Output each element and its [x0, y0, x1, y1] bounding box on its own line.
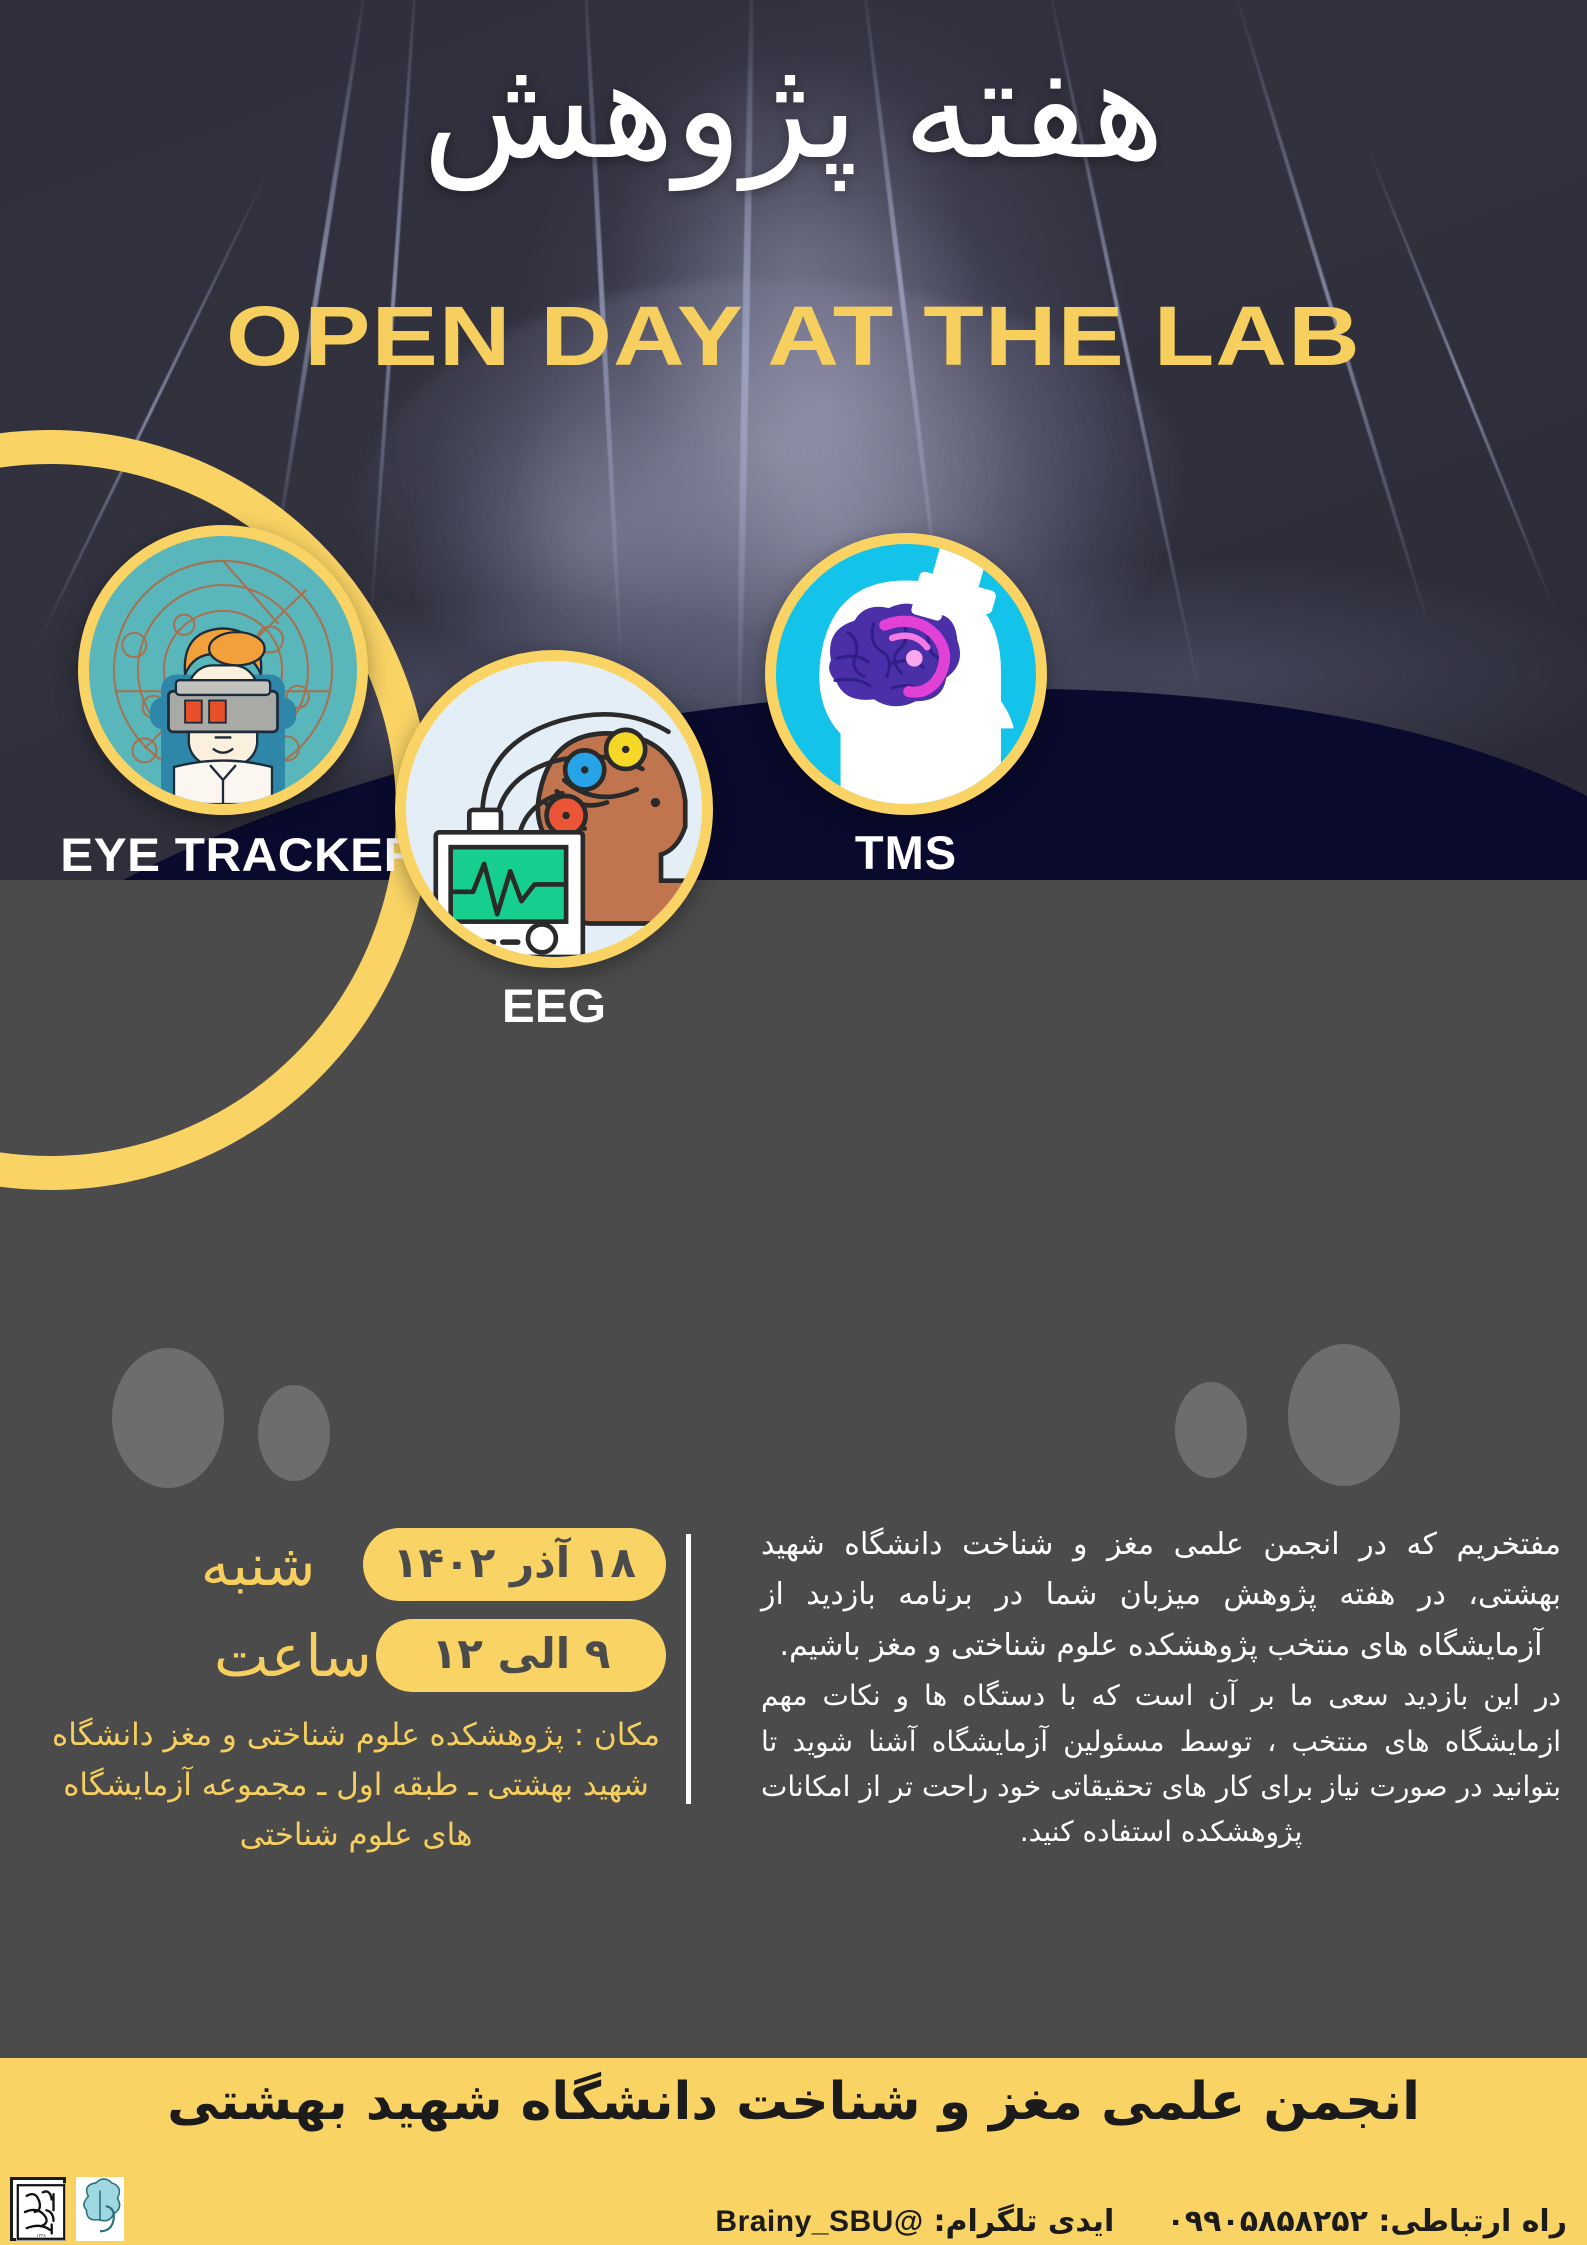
- modality-eeg[interactable]: EEG: [395, 650, 713, 968]
- tms-circle: [765, 533, 1047, 815]
- modality-tms[interactable]: TMS: [765, 533, 1047, 815]
- schedule-row-date: ۱۸ آذر ۱۴۰۲ شنبه: [46, 1528, 666, 1601]
- page-title-en: OPEN DAY AT THE LAB: [0, 288, 1587, 385]
- decorative-dot: [1175, 1382, 1247, 1478]
- modality-label-tms: TMS: [760, 825, 1052, 880]
- eye-tracker-icon: [89, 536, 357, 804]
- tms-icon: [776, 544, 1036, 804]
- poster-root: هفته پژوهش OPEN DAY AT THE LAB: [0, 0, 1587, 2245]
- association-name: انجمن علمی مغز و شناخت دانشگاه شهید بهشت…: [0, 2072, 1587, 2132]
- schedule-row-time: ۹ الی ۱۲ ساعت: [46, 1619, 666, 1692]
- day-label: شنبه: [183, 1531, 363, 1599]
- eeg-icon: [406, 661, 702, 957]
- decorative-dot: [258, 1385, 330, 1481]
- description-paragraph-2: در این بازدید سعی ما بر آن است که با دست…: [761, 1673, 1561, 1854]
- description-paragraph-1: مفتخریم که در انجمن علمی مغز و شناخت دان…: [761, 1520, 1561, 1671]
- svg-text:۱۳۳۸: ۱۳۳۸: [36, 2233, 46, 2239]
- sbu-logo-icon: ۱۳۳۸: [16, 2183, 66, 2241]
- eye-tracker-circle: [78, 525, 368, 815]
- sbu-university-logo: ۱۳۳۸: [10, 2177, 66, 2241]
- footer-banner: انجمن علمی مغز و شناخت دانشگاه شهید بهشت…: [0, 2058, 1587, 2245]
- time-label: ساعت: [196, 1622, 376, 1690]
- modality-label-eye-tracker: EYE TRACKER: [60, 827, 386, 882]
- telegram-label: ایدی تلگرام:: [934, 2204, 1115, 2239]
- contact-phone: ۰۹۹۰۵۸۵۸۲۵۲: [1166, 2204, 1367, 2239]
- time-pill: ۹ الی ۱۲: [376, 1619, 666, 1692]
- info-section: مفتخریم که در انجمن علمی مغز و شناخت دان…: [0, 1520, 1587, 2020]
- telegram-handle[interactable]: @Brainy_SBU: [715, 2205, 923, 2238]
- decorative-dot: [112, 1348, 224, 1488]
- decorative-dot: [1288, 1344, 1400, 1486]
- page-title-fa: هفته پژوهش: [0, 22, 1587, 197]
- footer-logos: ۱۳۳۸: [10, 2177, 124, 2241]
- contact-line: راه ارتباطی: ۰۹۹۰۵۸۵۸۲۵۲ ایدی تلگرام: @B…: [715, 2204, 1567, 2239]
- date-pill: ۱۸ آذر ۱۴۰۲: [363, 1528, 666, 1601]
- brain-logo-icon: [76, 2177, 124, 2239]
- contact-label: راه ارتباطی:: [1378, 2204, 1567, 2239]
- brain-association-logo: [76, 2177, 124, 2241]
- eeg-circle: [395, 650, 713, 968]
- vertical-divider: [686, 1534, 691, 1804]
- schedule-block: ۱۸ آذر ۱۴۰۲ شنبه ۹ الی ۱۲ ساعت مکان : پژ…: [46, 1528, 666, 1861]
- venue-text: مکان : پژوهشکده علوم شناختی و مغز دانشگا…: [46, 1710, 666, 1861]
- modality-label-eeg: EEG: [387, 978, 721, 1033]
- modality-eye-tracker[interactable]: EYE TRACKER: [78, 525, 368, 815]
- description-block: مفتخریم که در انجمن علمی مغز و شناخت دان…: [761, 1520, 1561, 1857]
